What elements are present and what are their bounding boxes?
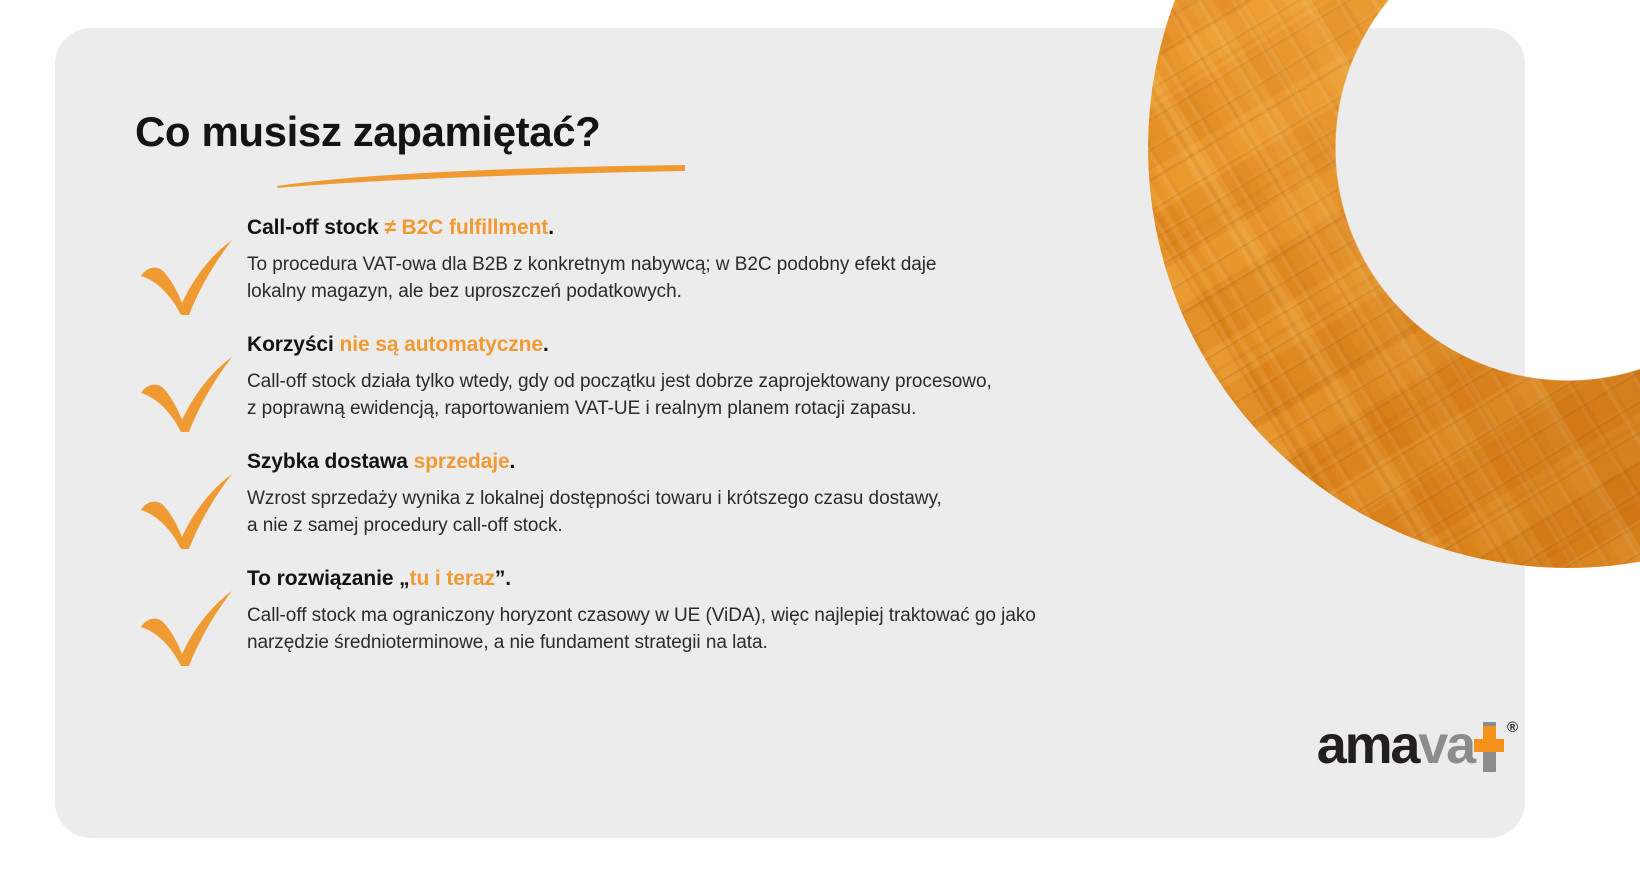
list-item: To rozwiązanie „tu i teraz”. Call-off st… xyxy=(135,564,1255,657)
list-item: Szybka dostawa sprzedaje. Wzrost sprzeda… xyxy=(135,447,1255,540)
bullet-heading-prefix: Korzyści xyxy=(247,333,339,356)
registered-trademark-symbol: ® xyxy=(1507,720,1518,735)
orange-checkmark-icon xyxy=(137,352,237,434)
bullet-heading-prefix: Call-off stock xyxy=(247,216,384,239)
key-takeaways-list: Call-off stock ≠ B2C fulfillment. To pro… xyxy=(135,213,1255,681)
list-item: Korzyści nie są automatyczne. Call-off s… xyxy=(135,330,1255,423)
bullet-heading: Szybka dostawa sprzedaje. xyxy=(247,449,1255,476)
title-block: Co musisz zapamiętać? xyxy=(135,108,600,156)
bullet-heading: Call-off stock ≠ B2C fulfillment. xyxy=(247,215,1255,242)
page-title: Co musisz zapamiętać? xyxy=(135,108,600,156)
bullet-heading: Korzyści nie są automatyczne. xyxy=(247,332,1255,359)
bullet-body: To procedura VAT-owa dla B2B z konkretny… xyxy=(247,251,1255,306)
orange-checkmark-icon xyxy=(137,469,237,551)
check-cell xyxy=(135,213,247,305)
bullet-heading-highlight: nie są automatyczne xyxy=(339,333,543,356)
bullet-heading-highlight: sprzedaje xyxy=(414,450,510,473)
bullet-text: To rozwiązanie „tu i teraz”. Call-off st… xyxy=(247,564,1255,657)
title-underline-swoosh xyxy=(275,164,687,188)
check-cell xyxy=(135,447,247,539)
logo-t-crossbar xyxy=(1474,739,1504,752)
logo-t-plus-icon xyxy=(1474,718,1504,772)
list-item: Call-off stock ≠ B2C fulfillment. To pro… xyxy=(135,213,1255,306)
orange-checkmark-icon xyxy=(137,586,237,668)
amavat-logo: amava ® xyxy=(1317,718,1518,772)
check-cell xyxy=(135,564,247,656)
bullet-heading-highlight: tu i teraz xyxy=(410,567,495,590)
infographic-canvas: Co musisz zapamiętać? Call-off stock ≠ B… xyxy=(0,0,1640,880)
bullet-heading-prefix: To rozwiązanie „ xyxy=(247,567,410,590)
bullet-heading-suffix: . xyxy=(548,216,554,239)
logo-part-va: va xyxy=(1418,715,1474,775)
bullet-body: Call-off stock działa tylko wtedy, gdy o… xyxy=(247,368,1255,423)
bullet-text: Szybka dostawa sprzedaje. Wzrost sprzeda… xyxy=(247,447,1255,540)
bullet-heading-suffix: . xyxy=(543,333,549,356)
orange-checkmark-icon xyxy=(137,235,237,317)
logo-wordmark: amava xyxy=(1317,718,1504,772)
logo-part-ama: ama xyxy=(1317,715,1418,775)
bullet-text: Call-off stock ≠ B2C fulfillment. To pro… xyxy=(247,213,1255,306)
bullet-heading-suffix: ”. xyxy=(495,567,511,590)
bullet-heading-prefix: Szybka dostawa xyxy=(247,450,414,473)
bullet-heading: To rozwiązanie „tu i teraz”. xyxy=(247,566,1255,593)
bullet-text: Korzyści nie są automatyczne. Call-off s… xyxy=(247,330,1255,423)
check-cell xyxy=(135,330,247,422)
bullet-heading-highlight: ≠ B2C fulfillment xyxy=(384,216,548,239)
bullet-body: Wzrost sprzedaży wynika z lokalnej dostę… xyxy=(247,485,1255,540)
bullet-body: Call-off stock ma ograniczony horyzont c… xyxy=(247,602,1255,657)
bullet-heading-suffix: . xyxy=(510,450,516,473)
